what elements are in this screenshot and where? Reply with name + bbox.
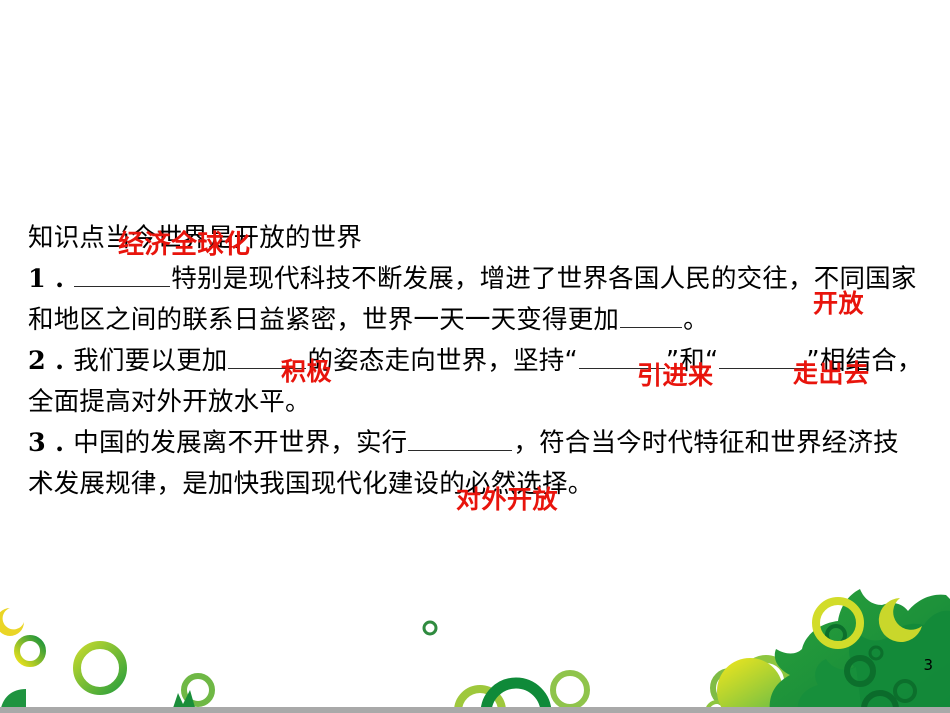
knowledge-point-heading: 知识点当今世界是开放的世界	[28, 218, 924, 259]
item-number: 1	[28, 264, 47, 294]
slide-canvas: 知识点当今世界是开放的世界 1 . 特别是现代科技不断发展，增进了世界各国人民的…	[0, 0, 950, 713]
item-dot: .	[55, 428, 65, 458]
fill-in-blank[interactable]	[620, 300, 682, 328]
heading-prefix: 知识点	[28, 223, 105, 253]
item-dot: .	[55, 346, 65, 376]
fill-in-blank[interactable]	[579, 341, 665, 369]
slide-body-text: 知识点当今世界是开放的世界 1 . 特别是现代科技不断发展，增进了世界各国人民的…	[28, 218, 924, 505]
list-item: 1 . 特别是现代科技不断发展，增进了世界各国人民的交往，不同国家和地区之间的联…	[28, 259, 924, 341]
fill-in-blank[interactable]	[408, 423, 512, 451]
heading-base-text: 当今世界是开放的世界	[105, 223, 362, 253]
fill-in-blank[interactable]	[228, 341, 306, 369]
list-item: 3 . 中国的发展离不开世界，实行，符合当今时代特征和世界经济技术发展规律，是加…	[28, 423, 924, 505]
item-text: 中国的发展离不开世界，实行	[73, 428, 407, 458]
item-text: 我们要以更加	[73, 346, 227, 376]
item-dot: .	[55, 264, 65, 294]
decorative-footer-graphic	[0, 563, 950, 713]
item-number: 2	[28, 346, 47, 376]
page-number: 3	[923, 656, 933, 674]
bottom-divider-bar	[0, 707, 950, 713]
item-text: ”和“	[666, 346, 719, 376]
item-text: 的姿态走向世界，坚持“	[307, 346, 577, 376]
list-item: 2 . 我们要以更加的姿态走向世界，坚持“”和“”相结合，全面提高对外开放水平。	[28, 341, 924, 423]
item-text: 。	[683, 305, 709, 335]
fill-in-blank[interactable]	[719, 341, 805, 369]
item-number: 3	[28, 428, 47, 458]
fill-in-blank[interactable]	[74, 259, 170, 287]
